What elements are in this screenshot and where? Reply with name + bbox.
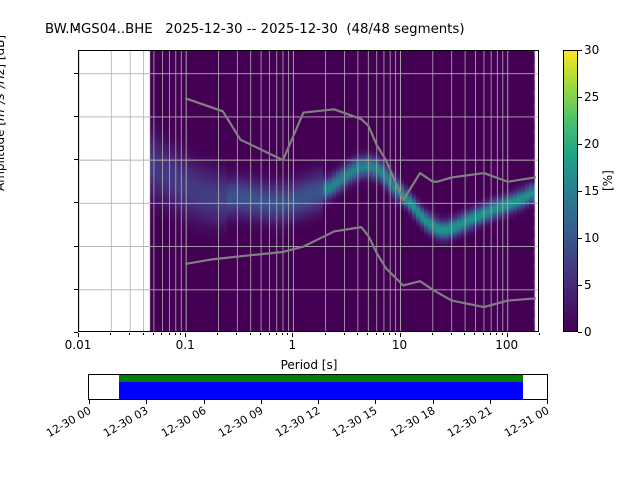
x-axis-minor-tick-mark	[287, 333, 288, 335]
timeline-tick-mark	[146, 400, 147, 404]
colorbar-tick-mark	[578, 50, 582, 51]
data-present-blue	[119, 382, 523, 399]
x-axis-tick-label: 0.1	[176, 338, 195, 352]
x-axis-minor-tick-mark	[389, 333, 390, 335]
y-axis-tick-mark	[74, 116, 78, 117]
x-axis-minor-tick-mark	[143, 333, 144, 335]
y-axis-tick-mark	[74, 202, 78, 203]
x-axis-minor-tick-mark	[325, 333, 326, 335]
x-axis-minor-tick-mark	[169, 333, 170, 335]
x-axis-minor-tick-mark	[474, 333, 475, 335]
data-present-green	[119, 375, 523, 382]
x-axis-minor-tick-mark	[483, 333, 484, 335]
timeline-tick-mark	[433, 400, 434, 404]
colorbar-tick-label: 20	[584, 137, 599, 151]
colorbar-tick-mark	[578, 97, 582, 98]
x-axis-minor-tick-mark	[496, 333, 497, 335]
y-axis-label: Amplitude [m2/s4/Hz] [dB]	[0, 35, 7, 191]
colorbar-tick-label: 15	[584, 184, 599, 198]
timeline-tick-mark	[261, 400, 262, 404]
x-axis-major-tick-mark	[292, 333, 293, 337]
x-axis-minor-tick-mark	[250, 333, 251, 335]
x-axis-minor-tick-mark	[451, 333, 452, 335]
timeline-tick-label: 12-30 06	[159, 404, 208, 440]
colorbar-tick-mark	[578, 144, 582, 145]
ppsd-plot-area	[79, 51, 538, 331]
colorbar-tick-label: 10	[584, 231, 599, 245]
noise-model-line	[186, 227, 535, 307]
x-axis-major-tick-mark	[185, 333, 186, 337]
ppsd-figure: BW.MGS04..BHE 2025-12-30 -- 2025-12-30 (…	[0, 0, 640, 480]
y-axis-tick-mark	[74, 289, 78, 290]
y-axis-tick-mark	[74, 29, 78, 30]
x-axis-minor-tick-mark	[539, 333, 540, 335]
timeline-tick-mark	[547, 400, 548, 404]
x-axis-minor-tick-mark	[269, 333, 270, 335]
x-axis-minor-tick-mark	[490, 333, 491, 335]
colorbar-tick-label: 5	[584, 278, 592, 292]
colorbar-tick-label: 25	[584, 90, 599, 104]
colorbar-tick-mark	[578, 285, 582, 286]
x-axis-minor-tick-mark	[383, 333, 384, 335]
x-axis-minor-tick-mark	[276, 333, 277, 335]
timeline-tick-label: 12-30 18	[388, 404, 437, 440]
timeline-tick-label: 12-30 21	[445, 404, 494, 440]
x-axis-minor-tick-mark	[395, 333, 396, 335]
x-axis-tick-label: 10	[392, 338, 407, 352]
timeline-tick-mark	[375, 400, 376, 404]
x-axis-minor-tick-mark	[260, 333, 261, 335]
x-axis-label: Period [s]	[281, 358, 338, 372]
x-axis-major-tick-mark	[400, 333, 401, 337]
x-axis-minor-tick-mark	[367, 333, 368, 335]
timeline-tick-label: 12-30 12	[273, 404, 322, 440]
timeline-tick-label: 12-30 00	[44, 404, 93, 440]
x-axis-major-tick-mark	[78, 333, 79, 337]
x-axis-minor-tick-mark	[180, 333, 181, 335]
x-axis-minor-tick-mark	[175, 333, 176, 335]
ppsd-axes	[78, 50, 539, 332]
timeline-tick-label: 12-30 09	[216, 404, 265, 440]
x-axis-minor-tick-mark	[502, 333, 503, 335]
x-axis-minor-tick-mark	[217, 333, 218, 335]
x-axis-minor-tick-mark	[110, 333, 111, 335]
timeline-tick-label: 12-30 03	[101, 404, 150, 440]
timeline-tick-mark	[318, 400, 319, 404]
colorbar-tick-label: 30	[584, 43, 599, 57]
noise-model-line	[186, 99, 535, 201]
data-coverage-timeline	[88, 374, 548, 400]
x-axis-tick-label: 100	[495, 338, 518, 352]
timeline-tick-label: 12-31 00	[502, 404, 551, 440]
colorbar-tick-mark	[578, 191, 582, 192]
colorbar	[563, 50, 578, 332]
timeline-tick-mark	[89, 400, 90, 404]
x-axis-minor-tick-mark	[344, 333, 345, 335]
x-axis-minor-tick-mark	[153, 333, 154, 335]
figure-title: BW.MGS04..BHE 2025-12-30 -- 2025-12-30 (…	[45, 22, 465, 37]
noise-model-curves	[79, 51, 538, 331]
timeline-tick-mark	[204, 400, 205, 404]
colorbar-tick-mark	[578, 332, 582, 333]
x-axis-minor-tick-mark	[161, 333, 162, 335]
y-axis-tick-mark	[74, 73, 78, 74]
x-axis-major-tick-mark	[507, 333, 508, 337]
colorbar-label: [%]	[601, 170, 615, 191]
y-axis-tick-mark	[74, 246, 78, 247]
x-axis-tick-label: 0.01	[65, 338, 92, 352]
x-axis-minor-tick-mark	[236, 333, 237, 335]
x-axis-minor-tick-mark	[357, 333, 358, 335]
colorbar-tick-mark	[578, 238, 582, 239]
x-axis-minor-tick-mark	[282, 333, 283, 335]
timeline-tick-label: 12-30 15	[330, 404, 379, 440]
x-axis-minor-tick-mark	[129, 333, 130, 335]
x-axis-minor-tick-mark	[432, 333, 433, 335]
x-axis-tick-label: 1	[289, 338, 297, 352]
x-axis-minor-tick-mark	[464, 333, 465, 335]
y-axis-tick-mark	[74, 159, 78, 160]
x-axis-minor-tick-mark	[376, 333, 377, 335]
colorbar-tick-label: 0	[584, 325, 592, 339]
timeline-tick-mark	[490, 400, 491, 404]
